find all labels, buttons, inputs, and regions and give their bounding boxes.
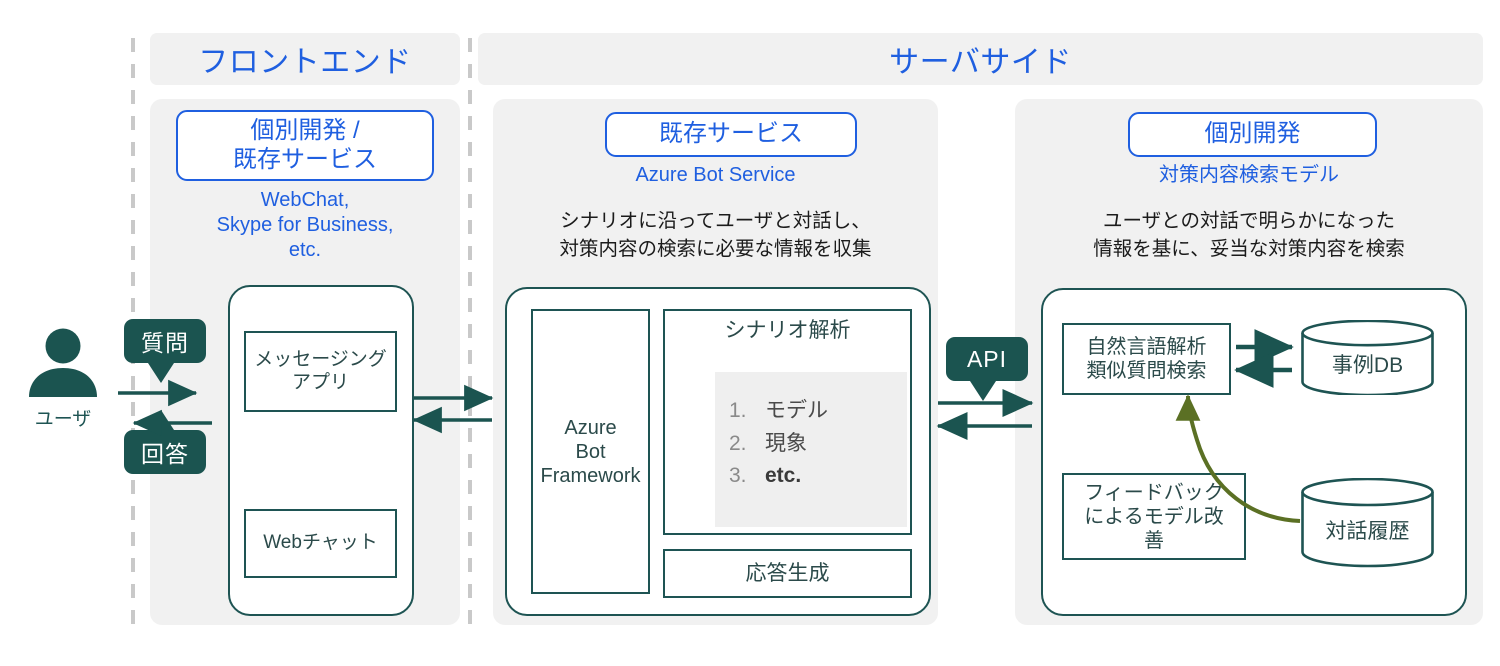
azure-subtitle-label: Azure Bot Service bbox=[493, 163, 938, 188]
box-feedback-model-improvement: フィードバック によるモデル改 善 bbox=[1062, 473, 1246, 560]
box-azure-bot-framework-line2: Bot bbox=[575, 440, 605, 464]
db-dialog-history: 対話履歴 bbox=[1300, 478, 1435, 568]
tag-search-model: 個別開発 bbox=[1128, 112, 1377, 157]
tag-search-model-label: 個別開発 bbox=[1205, 120, 1301, 148]
box-messaging-app-line2: アプリ bbox=[292, 372, 349, 395]
box-azure-bot-framework: Azure Bot Framework bbox=[531, 309, 650, 594]
box-web-chat-label: Webチャット bbox=[263, 532, 378, 555]
search-model-description-line2: 情報を基に、妥当な対策内容を検索 bbox=[1015, 235, 1483, 263]
list-item-label: etc. bbox=[765, 464, 801, 487]
box-messaging-app-line1: メッセージング bbox=[254, 349, 387, 372]
search-model-description: ユーザとの対話で明らかになった 情報を基に、妥当な対策内容を検索 bbox=[1015, 207, 1483, 264]
avatar-label: ユーザ bbox=[18, 404, 108, 431]
callout-question-label: 質問 bbox=[141, 324, 189, 358]
box-scenario-analysis-title: シナリオ解析 bbox=[725, 318, 851, 343]
list-item: 2.現象 bbox=[729, 428, 828, 461]
scenario-ordered-list: 1.モデル 2.現象 3.etc. bbox=[729, 395, 828, 493]
box-nlp-similarity-search-line1: 自然言語解析 bbox=[1087, 335, 1207, 359]
list-item-number: 3. bbox=[729, 460, 765, 493]
box-web-chat: Webチャット bbox=[244, 509, 397, 578]
callout-answer-label: 回答 bbox=[141, 435, 189, 469]
avatar-label-text: ユーザ bbox=[35, 409, 92, 430]
list-item-label: モデル bbox=[765, 399, 828, 422]
box-response-generation: 応答生成 bbox=[663, 549, 912, 598]
azure-description: シナリオに沿ってユーザと対話し、 対策内容の検索に必要な情報を収集 bbox=[493, 207, 938, 264]
tag-azure-bot-service: 既存サービス bbox=[605, 112, 857, 157]
box-feedback-model-improvement-line2: によるモデル改 bbox=[1084, 505, 1223, 529]
search-model-subtitle-label: 対策内容検索モデル bbox=[1015, 163, 1483, 188]
band-serverside-label: サーバサイド bbox=[889, 37, 1072, 81]
azure-subtitle: Azure Bot Service bbox=[493, 163, 938, 188]
list-item-label: 現象 bbox=[765, 432, 807, 455]
frontend-subtitle: WebChat, Skype for Business, etc. bbox=[150, 188, 460, 263]
band-frontend: フロントエンド bbox=[150, 33, 460, 85]
list-item-number: 1. bbox=[729, 395, 765, 428]
list-item-number: 2. bbox=[729, 428, 765, 461]
box-azure-bot-framework-line3: Framework bbox=[540, 464, 640, 488]
db-case-db: 事例DB bbox=[1300, 320, 1435, 395]
person-icon bbox=[18, 328, 108, 400]
tag-frontend: 個別開発 / 既存サービス bbox=[176, 110, 434, 181]
callout-api-label: API bbox=[967, 346, 1007, 373]
frontend-subtitle-line1: WebChat, bbox=[150, 188, 460, 213]
frontend-subtitle-line3: etc. bbox=[150, 238, 460, 263]
tag-azure-bot-service-label: 既存サービス bbox=[659, 120, 803, 148]
avatar bbox=[18, 328, 108, 400]
box-feedback-model-improvement-line1: フィードバック bbox=[1084, 481, 1224, 505]
box-response-generation-label: 応答生成 bbox=[746, 561, 830, 586]
box-nlp-similarity-search-line2: 類似質問検索 bbox=[1087, 359, 1207, 383]
azure-description-line1: シナリオに沿ってユーザと対話し、 bbox=[493, 207, 938, 235]
tag-frontend-line2: 既存サービス bbox=[233, 146, 377, 174]
callout-api: API bbox=[946, 337, 1028, 381]
search-model-description-line1: ユーザとの対話で明らかになった bbox=[1015, 207, 1483, 235]
list-item: 3.etc. bbox=[729, 460, 828, 493]
box-messaging-app: メッセージング アプリ bbox=[244, 331, 397, 412]
diagram-canvas: フロントエンド サーバサイド 個別開発 / 既存サービス WebChat, Sk… bbox=[0, 0, 1500, 666]
band-serverside: サーバサイド bbox=[478, 33, 1483, 85]
box-nlp-similarity-search: 自然言語解析 類似質問検索 bbox=[1062, 323, 1231, 395]
azure-description-line2: 対策内容の検索に必要な情報を収集 bbox=[493, 235, 938, 263]
search-model-subtitle: 対策内容検索モデル bbox=[1015, 163, 1483, 188]
divider-middle bbox=[468, 38, 472, 628]
callout-answer: 回答 bbox=[124, 430, 206, 474]
box-feedback-model-improvement-line3: 善 bbox=[1144, 529, 1164, 553]
box-azure-bot-framework-line1: Azure bbox=[564, 416, 616, 440]
frontend-subtitle-line2: Skype for Business, bbox=[150, 213, 460, 238]
tag-frontend-line1: 個別開発 / bbox=[250, 117, 359, 145]
db-dialog-history-label: 対話履歴 bbox=[1300, 478, 1435, 568]
list-item: 1.モデル bbox=[729, 395, 828, 428]
band-frontend-label: フロントエンド bbox=[198, 37, 412, 81]
db-case-db-label: 事例DB bbox=[1300, 320, 1435, 395]
callout-question: 質問 bbox=[124, 319, 206, 363]
